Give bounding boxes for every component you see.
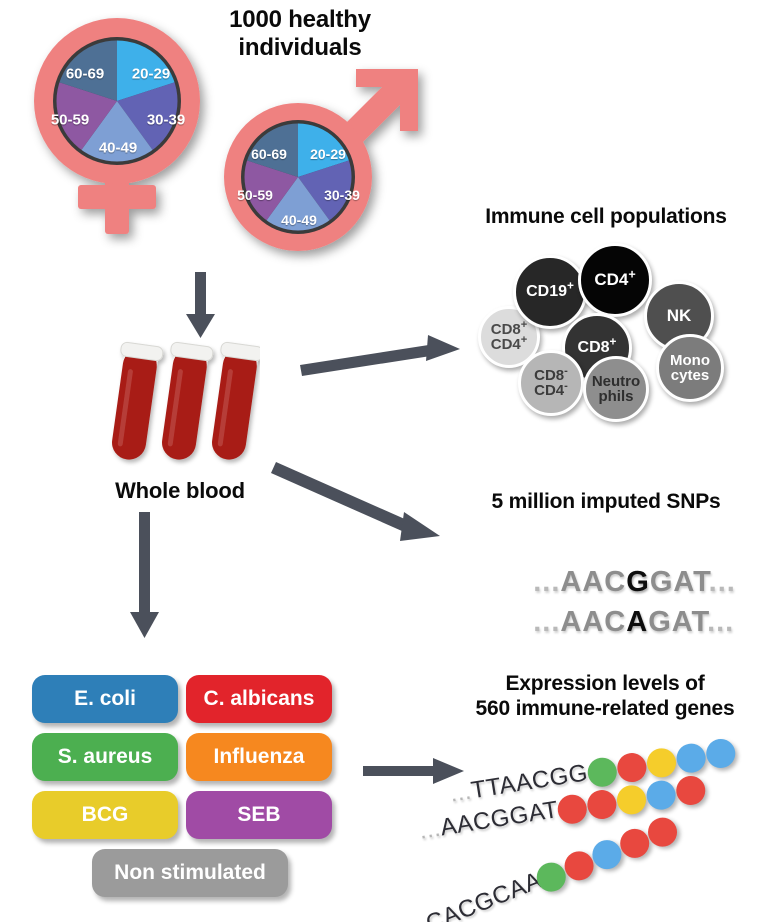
immune-cell-label-line: CD4+: [594, 271, 635, 288]
immune-cell-cluster: CD8+CD4+CD19+CD4+NKCD8+CD8-CD4-Neutrophi…: [0, 0, 771, 430]
stimulus-pill-seb[interactable]: SEB: [186, 791, 332, 839]
snp-row-2-suffix: ...: [707, 606, 734, 638]
stimulus-pill-bcg[interactable]: BCG: [32, 791, 178, 839]
stimulus-label: Influenza: [213, 745, 304, 769]
snp-row-2-prefix: ...: [533, 606, 560, 638]
expression-bead: [704, 737, 737, 770]
immune-cell-label-line: CD4-: [534, 383, 568, 398]
arrow-blood-to-stimuli: [125, 512, 169, 642]
immune-cell-monocytes: Monocytes: [656, 334, 724, 402]
whole-blood-label: Whole blood: [50, 478, 310, 504]
expression-strand-sequence: ...CACGCAA: [402, 868, 542, 922]
snp-row-2-left: AAC: [560, 606, 626, 638]
immune-cell-cd8cd4: CD8-CD4-: [518, 350, 584, 416]
stimulus-label: BCG: [82, 803, 129, 827]
expression-bead: [586, 756, 619, 789]
expression-title: Expression levels of 560 immune-related …: [440, 672, 770, 722]
stimulus-label: C. albicans: [204, 687, 315, 711]
expression-title-line-1: Expression levels of: [440, 672, 770, 697]
immune-cell-cd4: CD4+: [578, 243, 652, 317]
expression-strand-sequence: ...AACGGAT: [417, 796, 560, 846]
immune-cell-label-line: Neutro: [592, 374, 640, 389]
immune-cell-label-line: CD4+: [491, 337, 528, 352]
immune-cell-label-line: CD8+: [578, 340, 617, 356]
stimulus-pill-nonstimulated[interactable]: Non stimulated: [92, 849, 288, 897]
snp-row-2-variant: A: [626, 606, 648, 638]
expression-bead: [675, 742, 708, 775]
immune-cell-neutrophils: Neutrophils: [583, 356, 649, 422]
immune-cell-label-line: cytes: [670, 368, 710, 383]
stimulus-label: SEB: [237, 803, 280, 827]
immune-cell-label-superscript: +: [567, 279, 574, 293]
snp-sequence-row-2: ...AACAGAT...: [497, 573, 734, 672]
stimulus-pill-saureus[interactable]: S. aureus: [32, 733, 178, 781]
stimulus-pill-calbicans[interactable]: C. albicans: [186, 675, 332, 723]
figure-canvas: 20-29 30-39 40-49 50-59 60-69 20-29 30-3…: [0, 0, 771, 922]
expression-bead: [615, 751, 648, 784]
immune-cell-label-line: Mono: [670, 353, 710, 368]
immune-cell-label-superscript: -: [564, 380, 568, 392]
immune-cell-label-line: NK: [667, 307, 692, 324]
snp-title: 5 million imputed SNPs: [446, 490, 766, 515]
immune-cell-cd19: CD19+: [513, 255, 587, 329]
immune-cell-label-superscript: +: [610, 335, 617, 349]
immune-cell-label-superscript: +: [628, 268, 635, 282]
immune-cell-label-line: CD19+: [526, 284, 574, 300]
stimulus-label: E. coli: [74, 687, 136, 711]
expression-bead: [645, 779, 678, 812]
expression-bead: [645, 746, 678, 779]
stimulus-pill-ecoli[interactable]: E. coli: [32, 675, 178, 723]
stimulus-label: S. aureus: [58, 745, 153, 769]
stimulus-pill-influenza[interactable]: Influenza: [186, 733, 332, 781]
immune-cell-label-superscript: +: [521, 334, 527, 346]
expression-bead: [585, 788, 618, 821]
immune-cell-label-superscript: -: [564, 365, 568, 377]
expression-bead: [556, 793, 589, 826]
expression-bead: [674, 774, 707, 807]
arrow-blood-to-snps: [276, 462, 456, 552]
stimulus-label: Non stimulated: [114, 861, 266, 885]
snp-row-2-right: GAT: [648, 606, 707, 638]
expression-bead: [615, 783, 648, 816]
immune-cell-label-line: CD8-: [534, 368, 568, 383]
immune-cell-label-line: phils: [592, 389, 640, 404]
expression-title-line-2: 560 immune-related genes: [440, 697, 770, 722]
